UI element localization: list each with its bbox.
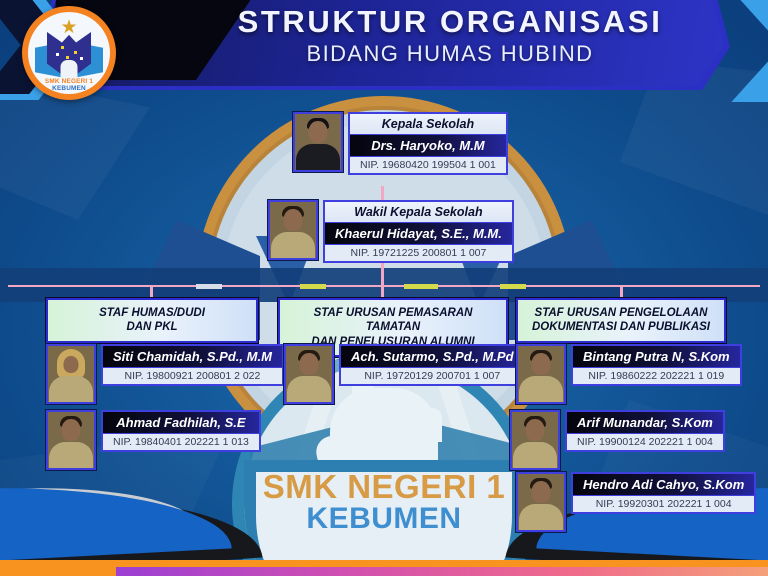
member-text-block: Hendro Adi Cahyo, S.Kom NIP. 19920301 20… bbox=[571, 472, 756, 514]
member-card-arif-munandar[interactable]: Arif Munandar, S.Kom NIP. 19900124 20222… bbox=[510, 410, 725, 470]
node-wakil-kepala-sekolah[interactable]: Wakil Kepala Sekolah Khaerul Hidayat, S.… bbox=[268, 200, 514, 263]
member-text-block: Siti Chamidah, S.Pd., M.M NIP. 19800921 … bbox=[101, 344, 284, 386]
section-heading-line-1: STAF URUSAN PENGELOLAAN bbox=[526, 306, 716, 320]
logo-dot bbox=[56, 53, 59, 56]
member-nip: NIP. 19840401 202221 1 013 bbox=[103, 433, 259, 450]
member-nip: NIP. 19800921 200801 2 022 bbox=[103, 367, 282, 384]
poster-header: STRUKTUR ORGANISASI BIDANG HUMAS HUBIND … bbox=[0, 0, 768, 92]
logo-hand-icon bbox=[61, 60, 78, 80]
node-name: Khaerul Hidayat, S.E., M.M. bbox=[325, 223, 512, 244]
band-tick bbox=[404, 284, 438, 289]
avatar bbox=[46, 344, 96, 404]
node-nip: NIP. 19721225 200801 1 007 bbox=[325, 244, 512, 261]
organization-chart-poster: SMK NEGERI 1 KEBUMEN STRUKTUR ORGANISASI… bbox=[0, 0, 768, 576]
member-card-ahmad-fadhilah[interactable]: Ahmad Fadhilah, S.E NIP. 19840401 202221… bbox=[46, 410, 261, 470]
connector-horizontal-branch bbox=[8, 285, 760, 287]
avatar bbox=[293, 112, 343, 172]
avatar bbox=[510, 410, 560, 470]
member-name: Ach. Sutarmo, S.Pd., M.Pd bbox=[341, 346, 524, 367]
section-heading-line-1: STAF URUSAN PEMASARAN TAMATAN bbox=[288, 306, 498, 335]
logo-inner: ★ SMK NEGERI 1 KEBUMEN bbox=[28, 12, 110, 94]
member-card-siti-chamidah[interactable]: Siti Chamidah, S.Pd., M.M NIP. 19800921 … bbox=[46, 344, 284, 404]
section-heading-line-2: DAN PKL bbox=[56, 320, 248, 334]
school-logo: ★ SMK NEGERI 1 KEBUMEN bbox=[22, 6, 116, 100]
node-text-block: Kepala Sekolah Drs. Haryoko, M.M NIP. 19… bbox=[348, 112, 508, 175]
section-header-text: STAF HUMAS/DUDI DAN PKL bbox=[48, 300, 256, 341]
connector-branch-left bbox=[150, 285, 153, 299]
title-line-1: STRUKTUR ORGANISASI bbox=[170, 6, 730, 39]
section-header-staf-humas-dudi-pkl[interactable]: STAF HUMAS/DUDI DAN PKL bbox=[46, 298, 258, 343]
logo-dot bbox=[66, 56, 69, 59]
connector-branch-center bbox=[381, 285, 384, 299]
band-tick bbox=[500, 284, 526, 289]
node-name: Drs. Haryoko, M.M bbox=[350, 135, 506, 156]
member-text-block: Ach. Sutarmo, S.Pd., M.Pd NIP. 19720129 … bbox=[339, 344, 526, 386]
member-nip: NIP. 19720129 200701 1 007 bbox=[341, 367, 524, 384]
member-card-hendro-adi-cahyo[interactable]: Hendro Adi Cahyo, S.Kom NIP. 19920301 20… bbox=[516, 472, 756, 532]
bottom-gradient-strip bbox=[116, 567, 768, 576]
member-card-bintang-putra-n[interactable]: Bintang Putra N, S.Kom NIP. 19860222 202… bbox=[516, 344, 742, 404]
logo-dot bbox=[80, 57, 83, 60]
avatar bbox=[46, 410, 96, 470]
section-header-text: STAF URUSAN PENGELOLAAN DOKUMENTASI DAN … bbox=[518, 300, 724, 341]
member-nip: NIP. 19860222 202221 1 019 bbox=[573, 367, 740, 384]
logo-dot bbox=[61, 46, 64, 49]
star-icon: ★ bbox=[60, 18, 77, 37]
avatar bbox=[516, 472, 566, 532]
node-text-block: Wakil Kepala Sekolah Khaerul Hidayat, S.… bbox=[323, 200, 514, 263]
node-kepala-sekolah[interactable]: Kepala Sekolah Drs. Haryoko, M.M NIP. 19… bbox=[293, 112, 508, 175]
member-nip: NIP. 19920301 202221 1 004 bbox=[573, 495, 754, 512]
logo-text-line-2: KEBUMEN bbox=[28, 85, 110, 92]
title-line-2: BIDANG HUMAS HUBIND bbox=[170, 41, 730, 67]
band-tick bbox=[300, 284, 326, 289]
member-text-block: Arif Munandar, S.Kom NIP. 19900124 20222… bbox=[565, 410, 725, 452]
member-name: Ahmad Fadhilah, S.E bbox=[103, 412, 259, 433]
member-name: Arif Munandar, S.Kom bbox=[567, 412, 723, 433]
member-card-ach-sutarmo[interactable]: Ach. Sutarmo, S.Pd., M.Pd NIP. 19720129 … bbox=[284, 344, 526, 404]
member-name: Siti Chamidah, S.Pd., M.M bbox=[103, 346, 282, 367]
node-title: Kepala Sekolah bbox=[350, 114, 506, 135]
logo-dot bbox=[74, 51, 77, 54]
logo-text-line-1: SMK NEGERI 1 bbox=[28, 78, 110, 85]
member-text-block: Bintang Putra N, S.Kom NIP. 19860222 202… bbox=[571, 344, 742, 386]
band-tick bbox=[196, 284, 222, 289]
page-title: STRUKTUR ORGANISASI BIDANG HUMAS HUBIND bbox=[170, 6, 730, 67]
section-header-staf-urusan-pengelolaan-dokumentasi[interactable]: STAF URUSAN PENGELOLAAN DOKUMENTASI DAN … bbox=[516, 298, 726, 343]
member-nip: NIP. 19900124 202221 1 004 bbox=[567, 433, 723, 450]
avatar bbox=[268, 200, 318, 260]
connector-branch-right bbox=[620, 285, 623, 299]
member-name: Hendro Adi Cahyo, S.Kom bbox=[573, 474, 754, 495]
avatar bbox=[516, 344, 566, 404]
node-title: Wakil Kepala Sekolah bbox=[325, 202, 512, 223]
avatar bbox=[284, 344, 334, 404]
member-text-block: Ahmad Fadhilah, S.E NIP. 19840401 202221… bbox=[101, 410, 261, 452]
node-nip: NIP. 19680420 199504 1 001 bbox=[350, 156, 506, 173]
member-name: Bintang Putra N, S.Kom bbox=[573, 346, 740, 367]
section-heading-line-2: DOKUMENTASI DAN PUBLIKASI bbox=[526, 320, 716, 334]
section-heading-line-1: STAF HUMAS/DUDI bbox=[56, 306, 248, 320]
